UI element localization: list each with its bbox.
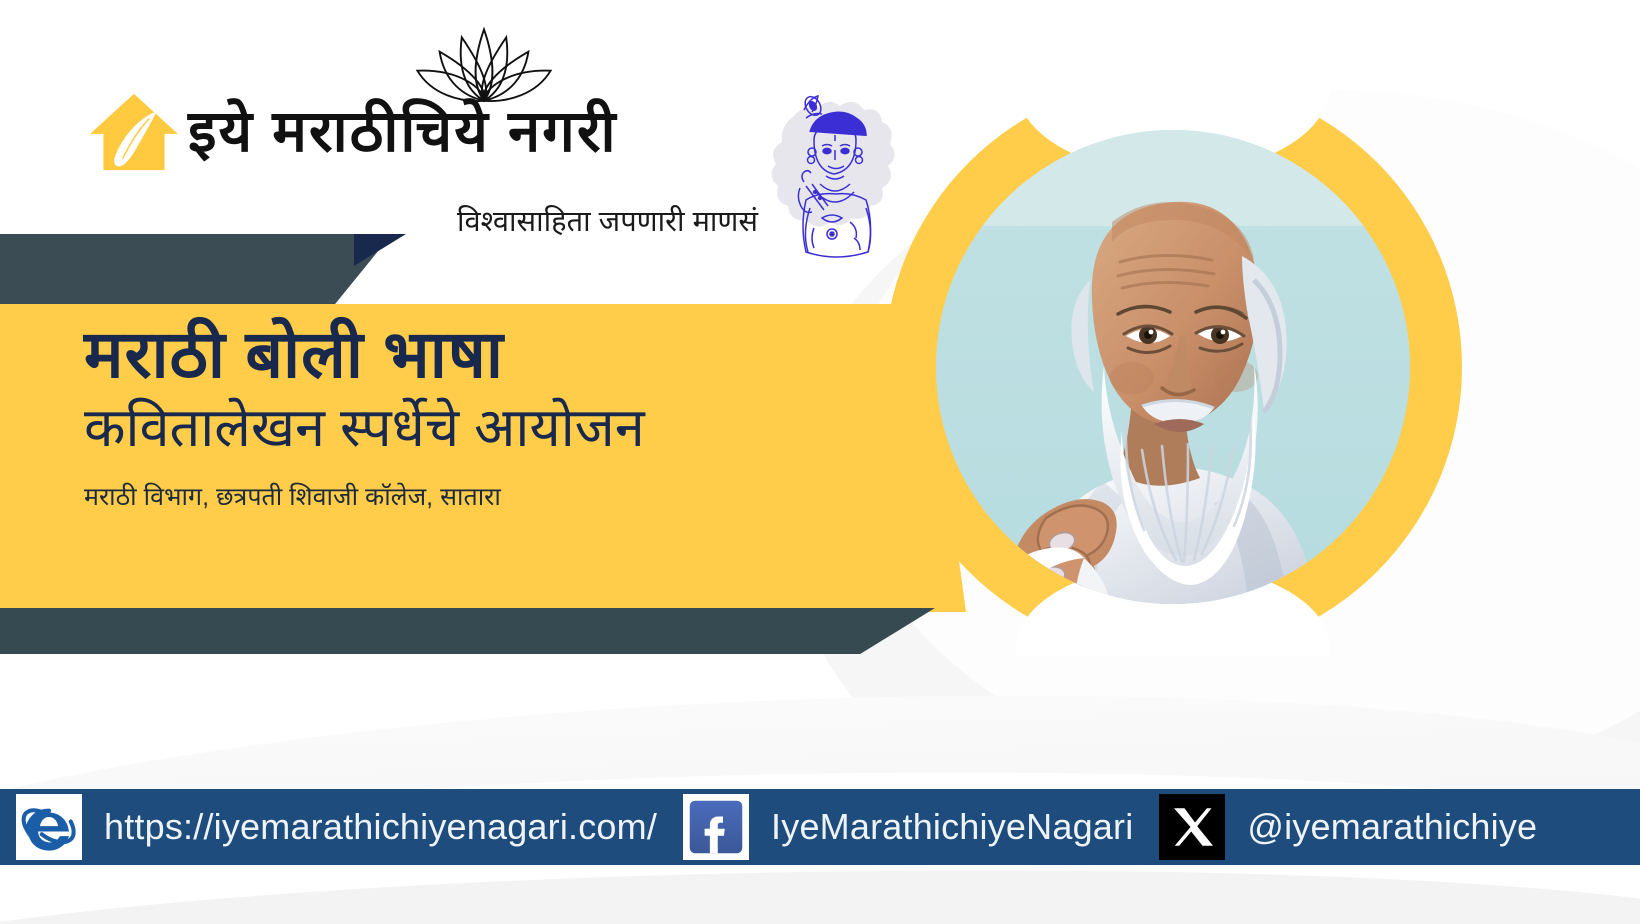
- house-quill-icon: [86, 90, 182, 174]
- poster-canvas: इये मराठीचिये नगरी विश्वासाहिता जपणारी म…: [0, 0, 1640, 924]
- krishna-illustration: [766, 88, 910, 266]
- facebook-icon[interactable]: [683, 794, 749, 860]
- x-twitter-icon[interactable]: [1159, 794, 1225, 860]
- portrait-illustration: [936, 130, 1410, 604]
- facebook-handle[interactable]: IyeMarathichiyeNagari: [771, 806, 1133, 848]
- brand-row: इये मराठीचिये नगरी: [86, 90, 618, 174]
- internet-explorer-icon[interactable]: [16, 794, 82, 860]
- website-url[interactable]: https://iyemarathichiyenagari.com/: [104, 806, 657, 848]
- banner-fold-triangle: [354, 234, 406, 266]
- brand-name: इये मराठीचिये नगरी: [188, 103, 618, 161]
- banner-dark-top-band: [0, 234, 392, 316]
- headline-block: मराठी बोली भाषा कवितालेखन स्पर्धेचे आयोज…: [84, 318, 914, 513]
- footer-bar: https://iyemarathichiyenagari.com/ IyeMa…: [0, 789, 1640, 865]
- brand-tagline: विश्वासाहिता जपणारी माणसं: [378, 201, 758, 240]
- headline-secondary: कवितालेखन स्पर्धेचे आयोजन: [84, 396, 914, 461]
- twitter-handle[interactable]: @iyemarathichiye: [1247, 806, 1537, 848]
- portrait-photo: [936, 130, 1410, 604]
- headline-primary: मराठी बोली भाषा: [84, 318, 914, 392]
- headline-organizer: मराठी विभाग, छत्रपती शिवाजी कॉलेज, सातार…: [84, 479, 914, 513]
- banner-dark-bottom-band: [0, 608, 935, 654]
